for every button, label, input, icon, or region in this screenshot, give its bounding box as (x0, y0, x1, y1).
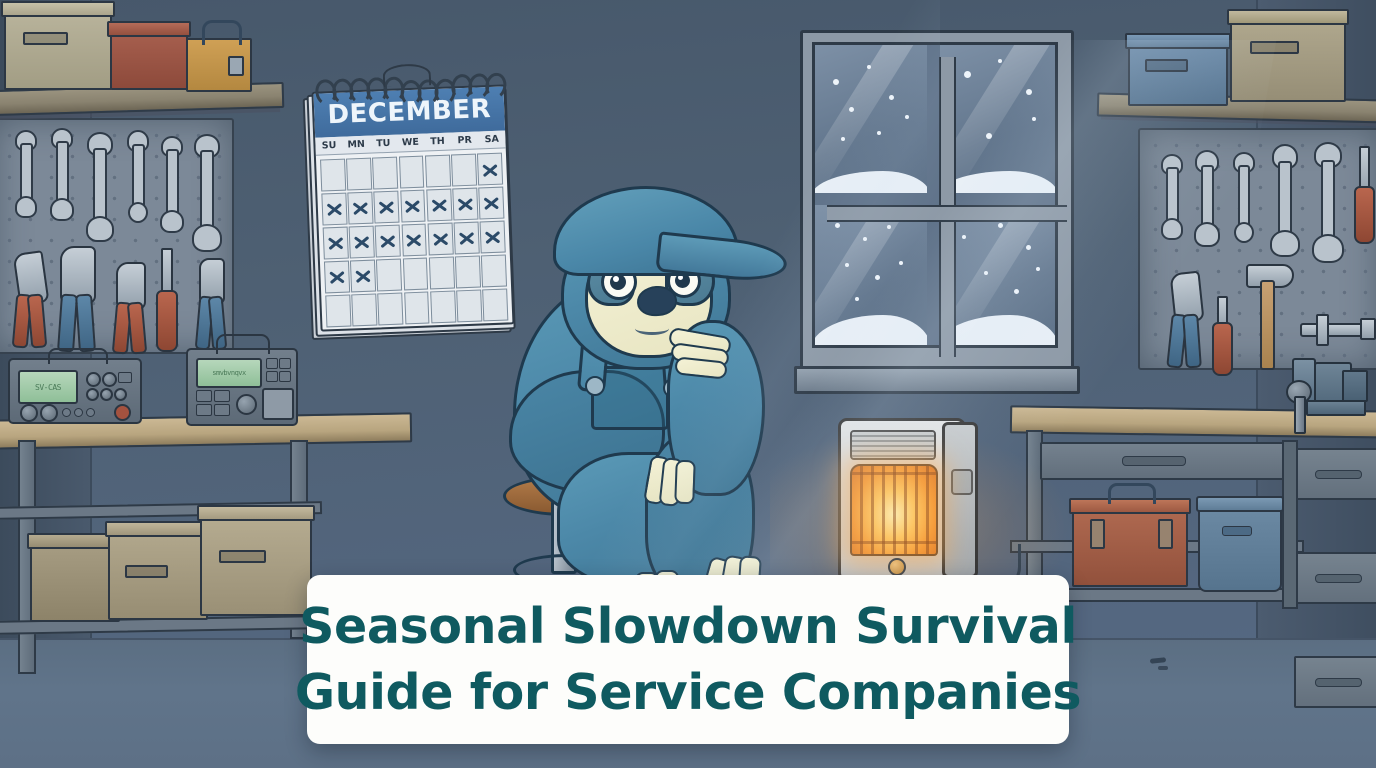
sloth-hand-knee (647, 456, 695, 506)
calendar-cell (430, 290, 456, 323)
window-pane (815, 45, 927, 193)
calendar-cell-crossed (323, 226, 349, 259)
wrench-icon (50, 128, 70, 218)
wrench-icon (86, 132, 110, 240)
calendar-cell (378, 292, 404, 325)
calendar-cell-crossed (427, 222, 453, 255)
test-instrument: SV-CAS (8, 358, 142, 424)
pliers-icon (12, 252, 48, 348)
test-instrument: smvbvnqvx (186, 348, 298, 426)
calendar-cell-crossed (426, 188, 452, 221)
window-pane (815, 205, 927, 345)
calendar-body: DECEMBER SUMNTUWETHPRSA (311, 84, 514, 331)
calendar-dow-tu: TU (369, 135, 397, 153)
screwdriver-icon (155, 248, 175, 350)
calendar-cell (425, 155, 451, 188)
calendar-dow-mn: MN (342, 136, 370, 154)
wrench-icon (14, 130, 34, 216)
calendar-cell (456, 289, 482, 322)
toolbox-handle (1108, 483, 1156, 504)
illustration-scene: DECEMBER SUMNTUWETHPRSA (0, 0, 1376, 768)
bench-vise (1284, 356, 1366, 414)
bench-drawer (1294, 552, 1376, 604)
sloth-hand-chin (669, 326, 733, 378)
calendar-cell-crossed (454, 221, 480, 254)
calendar-cell (404, 291, 430, 324)
cardboard-box (200, 512, 312, 616)
calendar-cell (325, 294, 351, 327)
space-heater (838, 418, 978, 583)
calendar-cell-crossed (374, 190, 400, 223)
screwdriver-icon (1354, 146, 1372, 242)
wrench-icon (160, 136, 180, 230)
calendar-cell-crossed (375, 224, 401, 257)
cardboard-box (108, 528, 208, 620)
sloth-mouth (635, 322, 669, 335)
bench-drawer (1294, 448, 1376, 500)
blue-bin (1198, 502, 1282, 592)
storage-box (4, 8, 112, 90)
calendar-cell (399, 156, 425, 189)
instrument-display: SV-CAS (18, 370, 78, 404)
heater-glow-element (850, 464, 938, 556)
wrench-icon (1232, 152, 1252, 242)
title-card: Seasonal Slowdown Survival Guide for Ser… (307, 575, 1069, 744)
window-sill (794, 366, 1080, 394)
overall-button (585, 376, 605, 396)
calendar-cell-crossed (401, 223, 427, 256)
window (800, 30, 1068, 370)
instrument-display: smvbvnqvx (196, 358, 262, 388)
calendar-cell (351, 293, 377, 326)
bench-apron-drawer (1040, 442, 1294, 480)
drawer-cabinet-side (1282, 440, 1298, 609)
calendar-cell-crossed (452, 187, 478, 220)
wrench-icon (1270, 144, 1296, 254)
calendar-cell-crossed (348, 191, 374, 224)
floor-scuff-mark (1158, 666, 1168, 670)
calendar-cell (451, 154, 477, 187)
calendar-cell-crossed (349, 225, 375, 258)
window-pane (940, 45, 1055, 193)
sloth-technician-character (495, 180, 795, 600)
calendar-cell-crossed (350, 259, 376, 292)
calendar-cell (403, 257, 429, 290)
calendar-cell (372, 157, 398, 190)
calendar-dow-th: TH (424, 133, 452, 151)
heater-knob (888, 558, 906, 576)
calendar-cell (429, 256, 455, 289)
wrench-icon (126, 130, 146, 222)
calendar-cell (346, 158, 372, 191)
window-glass-area (812, 42, 1058, 348)
wrench-icon (1312, 142, 1340, 260)
calendar-cell (455, 255, 481, 288)
calendar-dow-we: WE (397, 134, 425, 152)
bench-drawer (1294, 656, 1376, 708)
red-toolbox (110, 28, 188, 90)
pliers-icon (1168, 272, 1202, 366)
pliers-icon (56, 246, 96, 350)
wrench-icon (1160, 154, 1180, 240)
calendar-cell-crossed (324, 260, 350, 293)
socket-wrench-icon (1300, 314, 1372, 342)
calendar-cell-crossed (321, 192, 347, 225)
calendar-dow-su: SU (315, 137, 343, 155)
title-line-1: Seasonal Slowdown Survival (299, 594, 1077, 659)
storage-box (1230, 16, 1346, 102)
heater-handle (951, 469, 973, 495)
calendar-hanger-hook (382, 63, 431, 87)
pliers-icon (112, 262, 146, 352)
calendar-cell (320, 159, 346, 192)
red-toolbox (1072, 505, 1188, 587)
cardboard-box (30, 540, 120, 622)
title-line-2: Guide for Service Companies (295, 660, 1081, 725)
calendar-dow-pr: PR (451, 131, 479, 149)
screwdriver-icon (1212, 296, 1230, 376)
wall-calendar: DECEMBER SUMNTUWETHPRSA (311, 84, 516, 333)
yellow-toolbox (186, 38, 252, 92)
wrench-icon (192, 134, 218, 250)
hammer-icon (1246, 264, 1292, 370)
heater-vent (850, 430, 936, 460)
toolbox-latch (228, 56, 244, 76)
calendar-dow-sa: SA (478, 130, 506, 148)
toolbox-handle (202, 20, 242, 45)
instrument-handle (48, 348, 108, 364)
wrench-icon (1194, 150, 1216, 246)
calendar-cell-crossed (400, 189, 426, 222)
calendar-grid (316, 148, 513, 331)
blue-storage-box (1128, 40, 1228, 106)
instrument-handle (216, 334, 270, 354)
calendar-cell (376, 258, 402, 291)
window-pane (940, 205, 1055, 345)
window-mullion-horizontal (827, 205, 1067, 222)
calendar-spiral-ring (483, 71, 508, 100)
